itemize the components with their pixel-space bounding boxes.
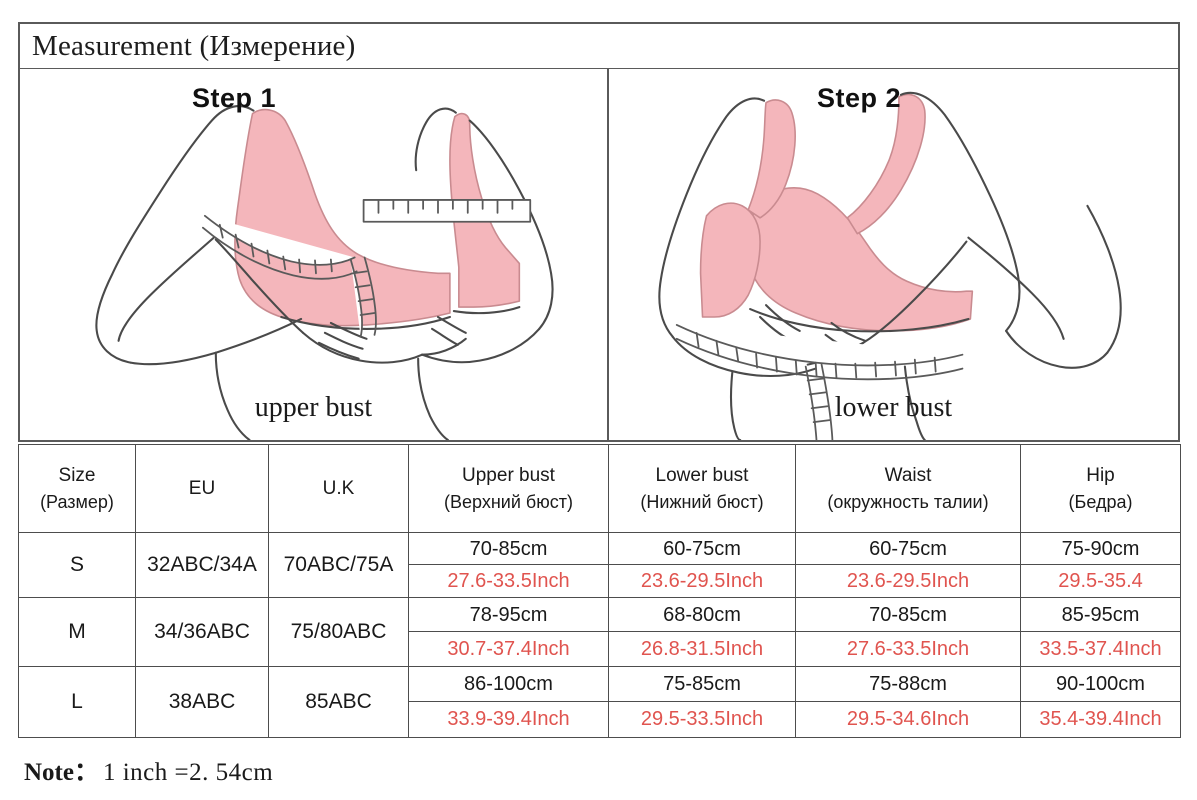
cell-size: M <box>19 598 136 667</box>
torso-bra-tape-lower-icon <box>609 69 1178 440</box>
cell-hip: 85-95cm 33.5-37.4Inch <box>1021 598 1181 667</box>
header-uk-main: U.K <box>323 478 355 499</box>
lower-bust-caption: lower bust <box>609 392 1178 424</box>
cell-eu: 38ABC <box>136 667 269 738</box>
header-waist-main: Waist <box>885 465 932 486</box>
cell-size: L <box>19 667 136 738</box>
cell-hip-cm: 90-100cm <box>1021 667 1180 702</box>
cell-lower-bust-inch: 29.5-33.5Inch <box>609 702 795 737</box>
size-chart-page: Measurement (Измерение) Step 1 <box>0 0 1197 800</box>
header-size-sub: (Размер) <box>22 489 132 515</box>
header-lower-bust: Lower bust (Нижний бюст) <box>609 445 796 533</box>
cell-lower-bust-inch: 23.6-29.5Inch <box>609 565 795 597</box>
header-hip-sub: (Бедра) <box>1024 489 1177 515</box>
header-size: Size (Размер) <box>19 445 136 533</box>
title-band: Measurement (Измерение) <box>18 22 1180 68</box>
cell-waist: 70-85cm 27.6-33.5Inch <box>796 598 1021 667</box>
cell-lower-bust-inch: 26.8-31.5Inch <box>609 632 795 666</box>
cell-upper-bust: 86-100cm 33.9-39.4Inch <box>409 667 609 738</box>
cell-hip-inch: 35.4-39.4Inch <box>1021 702 1180 737</box>
footer-note: Note： 1 inch =2. 54cm <box>24 752 273 788</box>
cell-eu: 32ABC/34A <box>136 533 269 598</box>
cell-lower-bust: 68-80cm 26.8-31.5Inch <box>609 598 796 667</box>
cell-hip-cm: 85-95cm <box>1021 598 1180 632</box>
cell-uk: 70ABC/75A <box>269 533 409 598</box>
step-1-label: Step 1 <box>192 83 276 114</box>
header-hip: Hip (Бедра) <box>1021 445 1181 533</box>
cell-waist: 75-88cm 29.5-34.6Inch <box>796 667 1021 738</box>
cell-upper-bust-inch: 30.7-37.4Inch <box>409 632 608 666</box>
torso-bra-tape-upper-icon <box>20 69 607 440</box>
header-upper-bust: Upper bust (Верхний бюст) <box>409 445 609 533</box>
cell-uk: 85ABC <box>269 667 409 738</box>
cell-hip-inch: 33.5-37.4Inch <box>1021 632 1180 666</box>
cell-size: S <box>19 533 136 598</box>
cell-hip-cm: 75-90cm <box>1021 533 1180 565</box>
cell-waist-cm: 70-85cm <box>796 598 1020 632</box>
step-2-label: Step 2 <box>817 83 901 114</box>
cell-hip: 90-100cm 35.4-39.4Inch <box>1021 667 1181 738</box>
cell-upper-bust-cm: 78-95cm <box>409 598 608 632</box>
cell-waist-inch: 23.6-29.5Inch <box>796 565 1020 597</box>
header-eu: EU <box>136 445 269 533</box>
cell-eu: 34/36ABC <box>136 598 269 667</box>
header-size-main: Size <box>59 465 96 486</box>
cell-hip: 75-90cm 29.5-35.4 <box>1021 533 1181 598</box>
cell-lower-bust: 60-75cm 23.6-29.5Inch <box>609 533 796 598</box>
header-lower-bust-sub: (Нижний бюст) <box>612 489 792 515</box>
header-upper-bust-sub: (Верхний бюст) <box>412 489 605 515</box>
header-eu-main: EU <box>189 478 215 499</box>
cell-lower-bust-cm: 60-75cm <box>609 533 795 565</box>
header-uk: U.K <box>269 445 409 533</box>
cell-waist-cm: 60-75cm <box>796 533 1020 565</box>
page-title: Measurement (Измерение) <box>20 30 356 63</box>
cell-upper-bust-cm: 70-85cm <box>409 533 608 565</box>
size-table: Size (Размер) EU U.K Upper bust (Верхний… <box>18 444 1181 738</box>
cell-lower-bust-cm: 68-80cm <box>609 598 795 632</box>
illustration-panel-step1: Step 1 <box>20 69 609 440</box>
cell-waist-inch: 29.5-34.6Inch <box>796 702 1020 737</box>
table-row: L 38ABC 85ABC 86-100cm 33.9-39.4Inch 75-… <box>19 667 1181 738</box>
illustration-panels: Step 1 <box>18 68 1180 442</box>
table-header: Size (Размер) EU U.K Upper bust (Верхний… <box>19 445 1181 533</box>
cell-waist: 60-75cm 23.6-29.5Inch <box>796 533 1021 598</box>
header-waist: Waist (окружность талии) <box>796 445 1021 533</box>
header-lower-bust-main: Lower bust <box>656 465 749 486</box>
cell-waist-cm: 75-88cm <box>796 667 1020 702</box>
cell-lower-bust-cm: 75-85cm <box>609 667 795 702</box>
cell-lower-bust: 75-85cm 29.5-33.5Inch <box>609 667 796 738</box>
cell-upper-bust-inch: 27.6-33.5Inch <box>409 565 608 597</box>
table-row: S 32ABC/34A 70ABC/75A 70-85cm 27.6-33.5I… <box>19 533 1181 598</box>
header-hip-main: Hip <box>1086 465 1115 486</box>
cell-upper-bust: 70-85cm 27.6-33.5Inch <box>409 533 609 598</box>
cell-upper-bust: 78-95cm 30.7-37.4Inch <box>409 598 609 667</box>
table-body: S 32ABC/34A 70ABC/75A 70-85cm 27.6-33.5I… <box>19 533 1181 738</box>
illustration-panel-step2: Step 2 <box>609 69 1178 440</box>
cell-waist-inch: 27.6-33.5Inch <box>796 632 1020 666</box>
cell-hip-inch: 29.5-35.4 <box>1021 565 1180 597</box>
table-row: M 34/36ABC 75/80ABC 78-95cm 30.7-37.4Inc… <box>19 598 1181 667</box>
table-header-row: Size (Размер) EU U.K Upper bust (Верхний… <box>19 445 1181 533</box>
header-upper-bust-main: Upper bust <box>462 465 555 486</box>
cell-upper-bust-inch: 33.9-39.4Inch <box>409 702 608 737</box>
upper-bust-caption: upper bust <box>20 392 607 424</box>
header-waist-sub: (окружность талии) <box>799 489 1017 515</box>
cell-upper-bust-cm: 86-100cm <box>409 667 608 702</box>
cell-uk: 75/80ABC <box>269 598 409 667</box>
note-label: Note： <box>24 752 99 788</box>
note-text: 1 inch =2. 54cm <box>103 759 273 787</box>
